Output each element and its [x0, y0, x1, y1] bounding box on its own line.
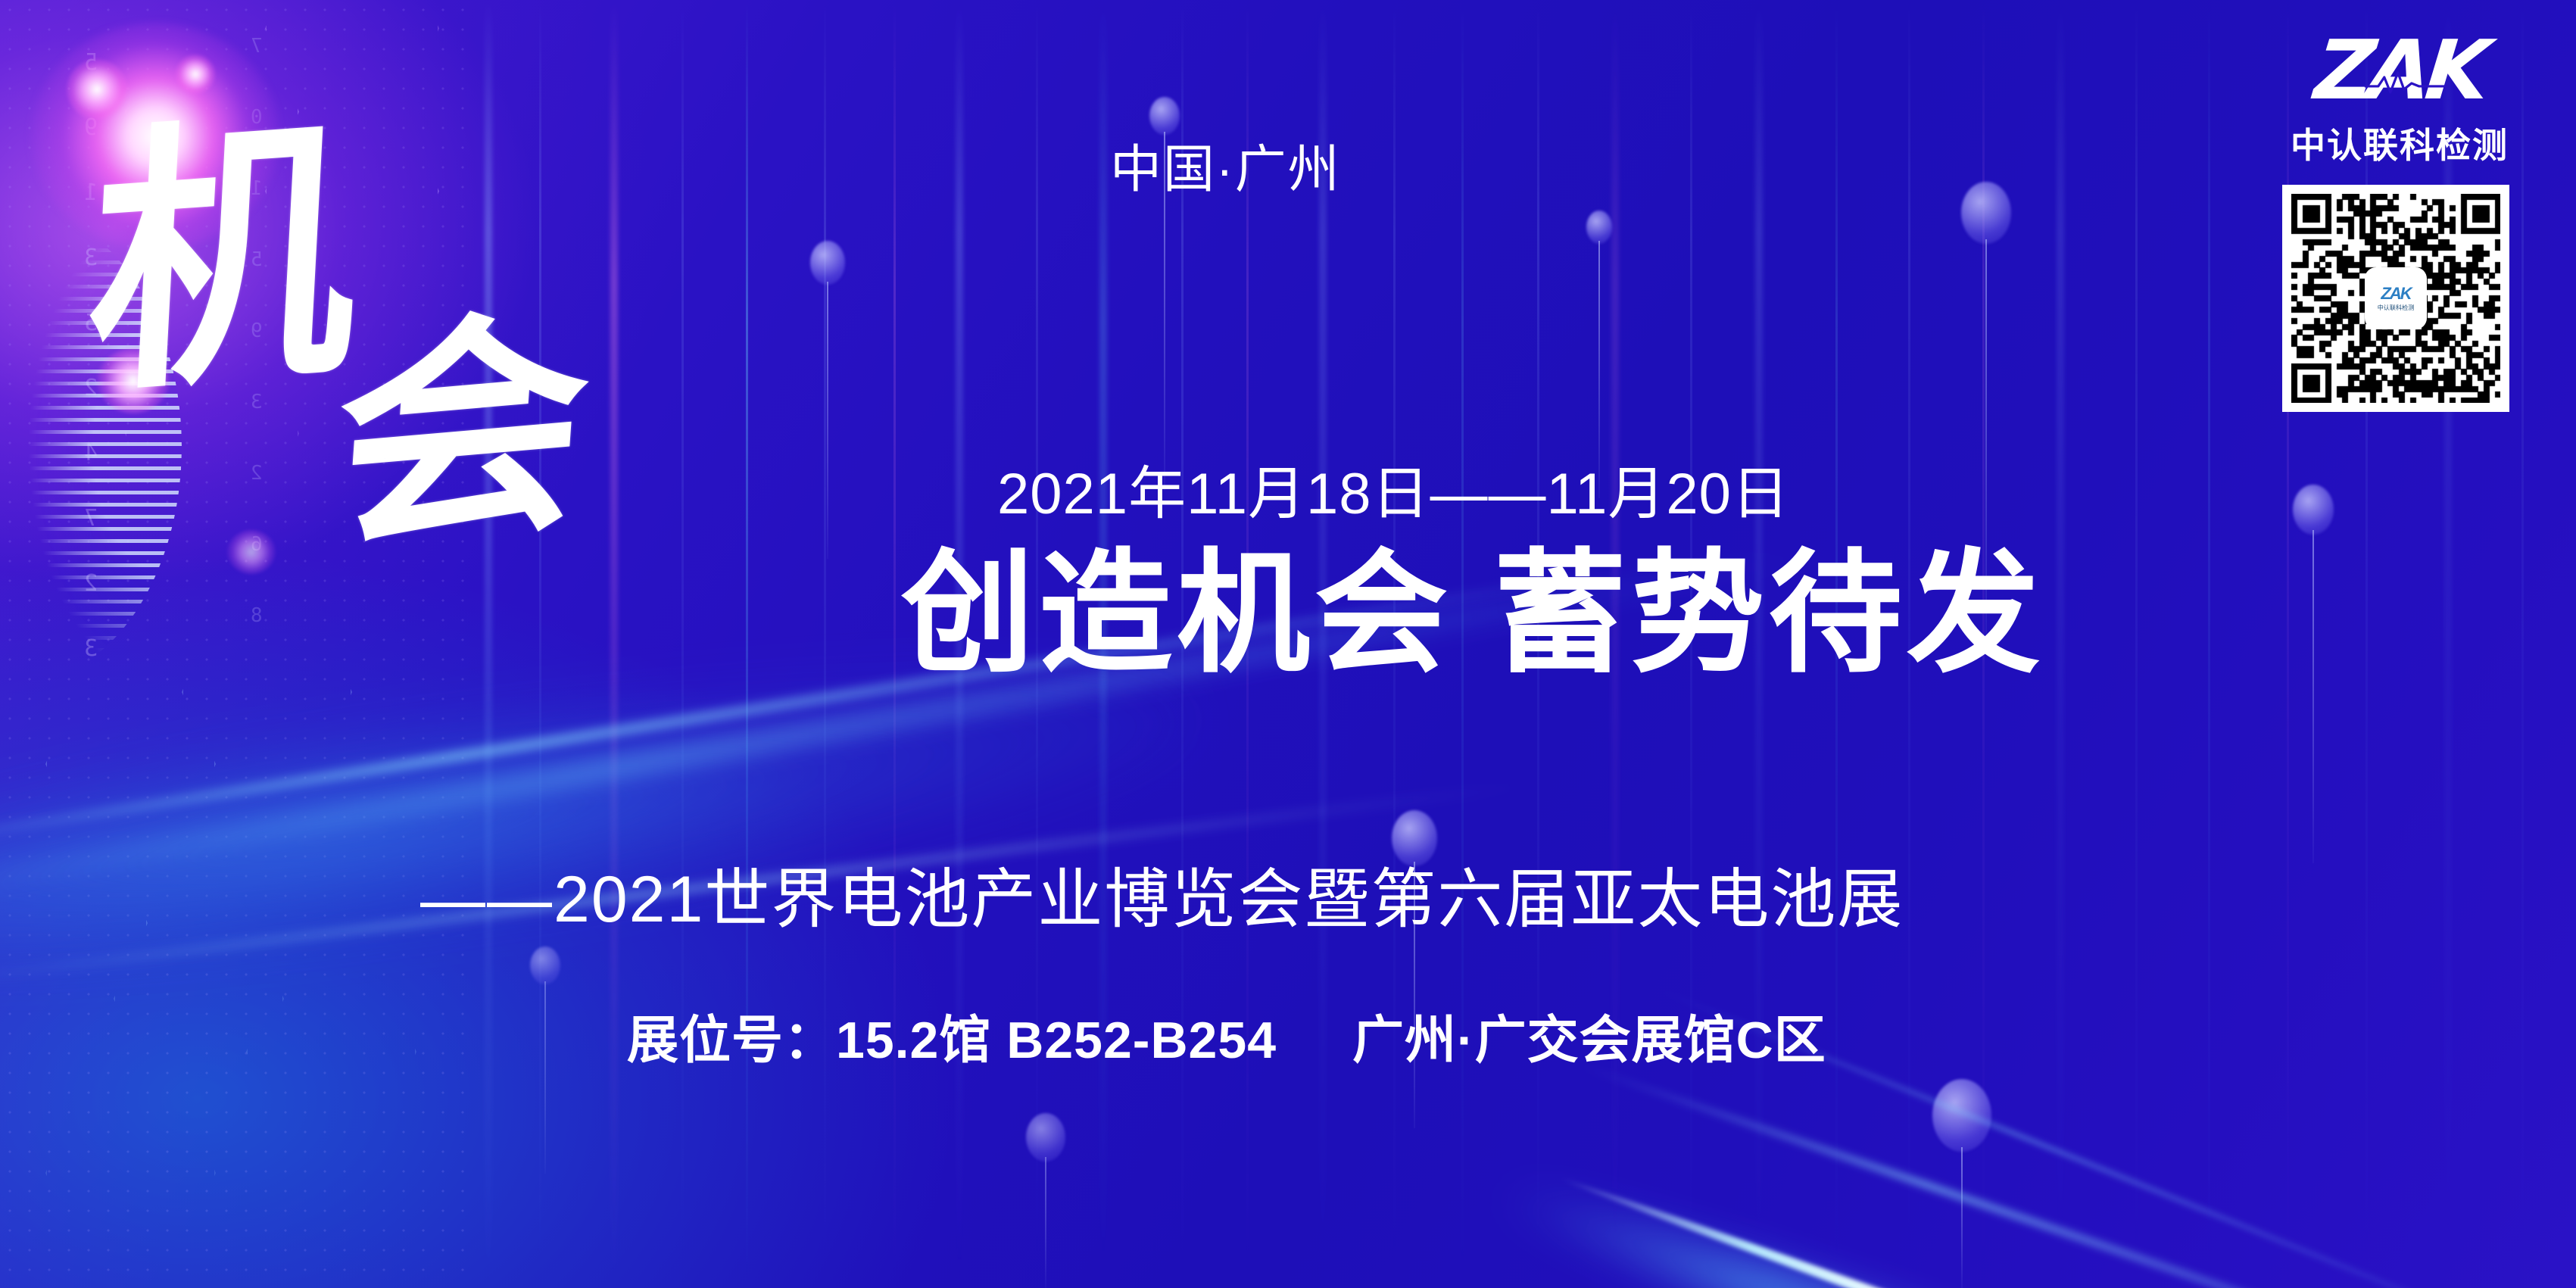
zak-logo: ZAK	[2282, 35, 2517, 108]
booth-and-venue-line: 展位号：15.2馆 B252-B254广州·广交会展馆C区	[627, 998, 1826, 1073]
headline-slogan: 创造机会蓄势待发	[901, 544, 2044, 685]
logo-block: ZAK 中认联科检测 ZAK 中认联科检测	[2282, 35, 2517, 412]
banner-content: 机 会 中国·广州 2021年11月18日——11月20日 创造机会蓄势待发 —…	[0, 0, 2576, 1288]
exhibition-banner: 5 9 1 3 5 2 4 7 2 3 7 0 1 5 9 3 2 6 8	[0, 0, 2576, 1288]
company-name-cn: 中认联科检测	[2282, 118, 2517, 168]
calligraphy-artwork: 机 会	[98, 133, 674, 541]
zak-wordmark: ZAK	[2312, 30, 2488, 112]
headline-part-2: 蓄势待发	[1493, 540, 2044, 688]
event-date-range: 2021年11月18日——11月20日	[997, 447, 1790, 530]
qr-center-name: 中认联科检测	[2378, 304, 2415, 310]
wechat-qr-code[interactable]: ZAK 中认联科检测	[2282, 185, 2509, 412]
qr-center-logo: ZAK 中认联科检测	[2367, 270, 2425, 327]
event-subtitle: ——2021世界电池产业博览会暨第六届亚太电池展	[420, 846, 1904, 940]
venue-name: 广州·广交会展馆C区	[1352, 1012, 1826, 1069]
calligraphy-char-ji: 机	[83, 108, 363, 406]
headline-part-1: 创造机会	[901, 540, 1452, 688]
booth-number: 展位号：15.2馆 B252-B254	[627, 1012, 1277, 1069]
location-label-top: 中国·广州	[1110, 127, 1341, 202]
calligraphy-char-hui: 会	[327, 302, 597, 562]
qr-center-wordmark: ZAK	[2381, 285, 2410, 302]
